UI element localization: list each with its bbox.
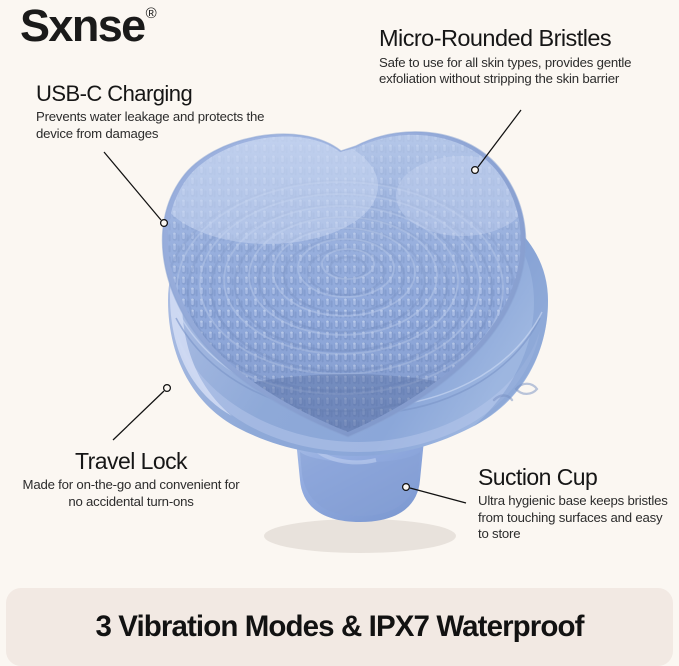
leader-line-suction xyxy=(410,488,466,503)
callout-body-suction-cup: Ultra hygienic base keeps bristles from … xyxy=(478,493,676,543)
suction-cup xyxy=(296,425,424,522)
product-shadow xyxy=(264,519,456,553)
leader-line-usb-c xyxy=(104,152,161,220)
callout-title-travel-lock: Travel Lock xyxy=(22,448,240,474)
brand-logo: Sxnse ® xyxy=(20,2,157,49)
callout-body-usb-c-charging: Prevents water leakage and protects the … xyxy=(36,109,266,142)
callout-travel-lock: Travel Lock Made for on-the-go and conve… xyxy=(22,448,240,510)
control-emboss-marks xyxy=(494,384,537,400)
infographic-canvas: Sxnse ® USB-C Charging Prevents water le… xyxy=(0,0,679,660)
leader-dot-suction xyxy=(403,484,410,491)
registered-trademark-icon: ® xyxy=(146,6,157,21)
callout-title-usb-c-charging: USB-C Charging xyxy=(36,81,266,106)
feature-banner: 3 Vibration Modes & IPX7 Waterproof xyxy=(6,588,673,666)
leader-dot-micro xyxy=(472,167,479,174)
callout-body-travel-lock: Made for on-the-go and convenient for no… xyxy=(22,477,240,510)
bristle-field xyxy=(140,110,560,486)
leader-line-micro xyxy=(478,110,521,167)
callout-micro-rounded-bristles: Micro-Rounded Bristles Safe to use for a… xyxy=(379,25,669,88)
leader-dot-travel xyxy=(164,385,171,392)
callout-suction-cup: Suction Cup Ultra hygienic base keeps br… xyxy=(478,464,676,543)
feature-banner-text: 3 Vibration Modes & IPX7 Waterproof xyxy=(95,612,583,642)
callout-title-suction-cup: Suction Cup xyxy=(478,464,676,490)
leader-line-travel xyxy=(113,391,164,440)
device-body xyxy=(168,176,548,456)
bristle-pad-base xyxy=(162,132,525,437)
callout-usb-c-charging: USB-C Charging Prevents water leakage an… xyxy=(36,81,266,142)
bristle-pad-edge xyxy=(162,132,525,437)
callout-body-micro-rounded-bristles: Safe to use for all skin types, provides… xyxy=(379,55,669,88)
brand-name: Sxnse xyxy=(20,2,145,49)
leader-dot-usb-c xyxy=(161,220,168,227)
callout-title-micro-rounded-bristles: Micro-Rounded Bristles xyxy=(379,25,669,52)
